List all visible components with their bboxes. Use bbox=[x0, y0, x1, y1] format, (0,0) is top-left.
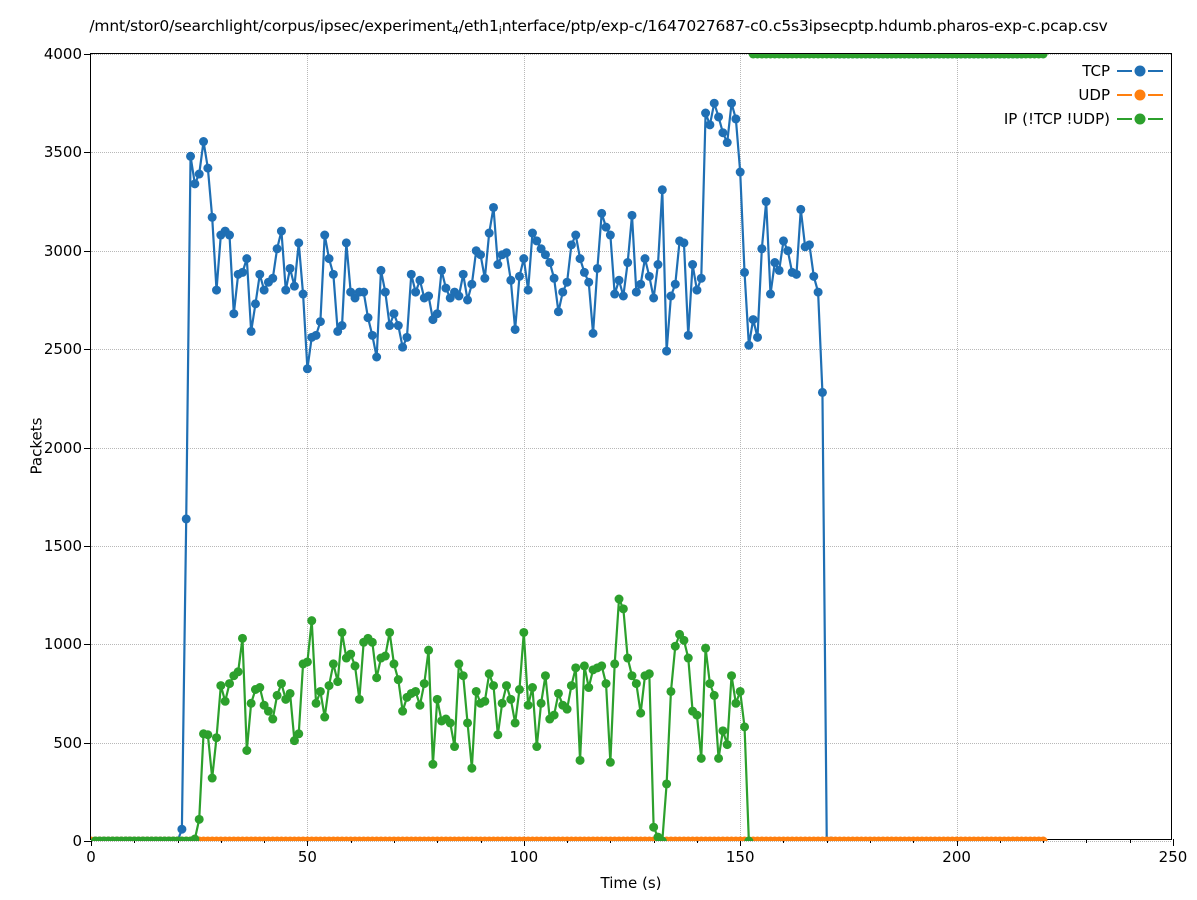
data-point bbox=[545, 258, 554, 267]
data-point bbox=[286, 264, 295, 273]
data-point bbox=[199, 137, 208, 146]
data-point bbox=[1039, 50, 1048, 59]
legend-item[interactable]: UDP bbox=[1078, 84, 1163, 105]
data-point bbox=[649, 823, 658, 832]
data-point bbox=[450, 742, 459, 751]
data-point bbox=[242, 254, 251, 263]
data-point bbox=[701, 109, 710, 118]
data-point bbox=[576, 756, 585, 765]
data-point bbox=[524, 701, 533, 710]
data-point bbox=[515, 272, 524, 281]
y-tick-label: 2500 bbox=[44, 340, 82, 358]
y-tick-label: 4000 bbox=[44, 45, 82, 63]
data-point bbox=[203, 164, 212, 173]
x-tick-label: 0 bbox=[86, 848, 96, 866]
data-point bbox=[779, 236, 788, 245]
y-tick-label: 3000 bbox=[44, 242, 82, 260]
data-point bbox=[524, 286, 533, 295]
data-point bbox=[225, 679, 234, 688]
data-point bbox=[463, 718, 472, 727]
plot-area: 0500100015002000250030003500400005010015… bbox=[90, 53, 1172, 840]
data-point bbox=[506, 695, 515, 704]
data-point bbox=[602, 679, 611, 688]
legend-item[interactable]: TCP bbox=[1082, 60, 1163, 81]
y-axis-label: Packets bbox=[27, 418, 45, 475]
data-point bbox=[467, 280, 476, 289]
data-point bbox=[775, 266, 784, 275]
data-point bbox=[805, 240, 814, 249]
y-tick bbox=[84, 448, 91, 449]
data-point bbox=[260, 286, 269, 295]
data-point bbox=[325, 681, 334, 690]
data-point bbox=[424, 646, 433, 655]
data-point bbox=[485, 229, 494, 238]
data-point bbox=[710, 691, 719, 700]
data-point bbox=[255, 270, 264, 279]
data-point bbox=[338, 628, 347, 637]
data-point bbox=[532, 236, 541, 245]
data-point bbox=[303, 657, 312, 666]
data-point bbox=[550, 274, 559, 283]
data-point bbox=[580, 661, 589, 670]
data-point bbox=[472, 687, 481, 696]
data-point bbox=[316, 687, 325, 696]
data-point bbox=[645, 272, 654, 281]
data-point bbox=[459, 671, 468, 680]
data-point bbox=[619, 292, 628, 301]
data-point bbox=[662, 779, 671, 788]
data-point bbox=[190, 179, 199, 188]
data-point bbox=[710, 99, 719, 108]
data-point bbox=[632, 288, 641, 297]
data-point bbox=[723, 740, 732, 749]
data-point bbox=[736, 168, 745, 177]
data-point bbox=[684, 331, 693, 340]
data-point bbox=[615, 595, 624, 604]
data-point bbox=[208, 213, 217, 222]
chart-legend: TCPUDPIP (!TCP !UDP) bbox=[1004, 60, 1163, 129]
data-point bbox=[446, 718, 455, 727]
data-point bbox=[649, 293, 658, 302]
data-point bbox=[433, 309, 442, 318]
legend-swatch-icon bbox=[1117, 88, 1163, 102]
data-point bbox=[381, 652, 390, 661]
data-point bbox=[221, 697, 230, 706]
data-point bbox=[359, 288, 368, 297]
data-point bbox=[550, 711, 559, 720]
data-point bbox=[381, 288, 390, 297]
y-tick bbox=[84, 841, 91, 842]
data-point bbox=[666, 687, 675, 696]
data-point bbox=[597, 209, 606, 218]
data-point bbox=[212, 286, 221, 295]
data-point bbox=[705, 679, 714, 688]
data-point bbox=[389, 309, 398, 318]
data-point bbox=[662, 347, 671, 356]
matplotlib-figure: /mnt/stor0/searchlight/corpus/ipsec/expe… bbox=[0, 0, 1197, 900]
data-point bbox=[363, 313, 372, 322]
data-point bbox=[385, 628, 394, 637]
data-point bbox=[463, 295, 472, 304]
data-point bbox=[567, 681, 576, 690]
data-point bbox=[584, 278, 593, 287]
data-point bbox=[602, 223, 611, 232]
data-point bbox=[714, 754, 723, 763]
data-point bbox=[528, 683, 537, 692]
data-point bbox=[307, 616, 316, 625]
data-point bbox=[433, 695, 442, 704]
data-point bbox=[420, 679, 429, 688]
data-point bbox=[571, 663, 580, 672]
data-point bbox=[480, 274, 489, 283]
data-point bbox=[459, 270, 468, 279]
data-point bbox=[623, 258, 632, 267]
data-point bbox=[277, 679, 286, 688]
gridline-horizontal bbox=[91, 841, 1171, 842]
data-point bbox=[731, 699, 740, 708]
data-point bbox=[541, 250, 550, 259]
data-point bbox=[411, 687, 420, 696]
data-point bbox=[498, 699, 507, 708]
data-point bbox=[740, 268, 749, 277]
data-point bbox=[619, 604, 628, 613]
data-point bbox=[697, 754, 706, 763]
data-point bbox=[333, 677, 342, 686]
data-point bbox=[234, 667, 243, 676]
data-point bbox=[718, 128, 727, 137]
data-point bbox=[268, 715, 277, 724]
data-point bbox=[727, 99, 736, 108]
data-point bbox=[480, 697, 489, 706]
data-point bbox=[580, 268, 589, 277]
data-point bbox=[818, 388, 827, 397]
data-point bbox=[216, 681, 225, 690]
data-point bbox=[182, 514, 191, 523]
y-tick bbox=[84, 546, 91, 547]
data-point bbox=[394, 321, 403, 330]
x-tick-label: 50 bbox=[298, 848, 317, 866]
data-point bbox=[294, 238, 303, 247]
y-tick-label: 500 bbox=[53, 734, 82, 752]
x-axis-label: Time (s) bbox=[90, 874, 1172, 892]
data-point bbox=[554, 307, 563, 316]
data-point bbox=[368, 331, 377, 340]
data-point bbox=[628, 671, 637, 680]
data-point bbox=[394, 675, 403, 684]
data-point bbox=[195, 815, 204, 824]
y-tick-label: 3500 bbox=[44, 143, 82, 161]
data-point bbox=[437, 266, 446, 275]
legend-label: TCP bbox=[1082, 62, 1110, 80]
data-point bbox=[615, 276, 624, 285]
data-point bbox=[385, 321, 394, 330]
data-point bbox=[623, 654, 632, 663]
data-point bbox=[355, 695, 364, 704]
data-point bbox=[273, 244, 282, 253]
y-tick-label: 1500 bbox=[44, 537, 82, 555]
data-point bbox=[415, 701, 424, 710]
data-point bbox=[277, 227, 286, 236]
data-point bbox=[576, 254, 585, 263]
data-point bbox=[346, 650, 355, 659]
x-tick-label: 250 bbox=[1159, 848, 1188, 866]
data-point bbox=[679, 238, 688, 247]
data-point bbox=[718, 726, 727, 735]
x-tick-label: 100 bbox=[509, 848, 538, 866]
legend-item[interactable]: IP (!TCP !UDP) bbox=[1004, 108, 1163, 129]
data-point bbox=[537, 699, 546, 708]
data-point bbox=[398, 707, 407, 716]
data-point bbox=[489, 203, 498, 212]
data-point bbox=[511, 325, 520, 334]
data-point bbox=[796, 205, 805, 214]
data-point bbox=[563, 705, 572, 714]
data-point bbox=[714, 112, 723, 121]
data-point bbox=[372, 353, 381, 362]
y-tick-label: 2000 bbox=[44, 439, 82, 457]
data-point bbox=[195, 170, 204, 179]
data-point bbox=[329, 270, 338, 279]
data-point bbox=[571, 231, 580, 240]
legend-swatch-icon bbox=[1117, 64, 1163, 78]
data-point bbox=[558, 288, 567, 297]
x-tick bbox=[1173, 839, 1174, 846]
data-point bbox=[697, 274, 706, 283]
data-point bbox=[597, 661, 606, 670]
data-series-layer bbox=[91, 54, 1173, 841]
data-point bbox=[753, 333, 762, 342]
data-point bbox=[740, 722, 749, 731]
series-line bbox=[95, 599, 749, 841]
legend-marker-icon bbox=[1135, 65, 1146, 76]
legend-marker-icon bbox=[1135, 113, 1146, 124]
plot-inner: 0500100015002000250030003500400005010015… bbox=[91, 54, 1171, 839]
data-point bbox=[541, 671, 550, 680]
data-point bbox=[666, 292, 675, 301]
data-point bbox=[679, 636, 688, 645]
legend-label: IP (!TCP !UDP) bbox=[1004, 110, 1110, 128]
data-point bbox=[532, 742, 541, 751]
data-point bbox=[290, 282, 299, 291]
data-point bbox=[610, 659, 619, 668]
y-tick bbox=[84, 743, 91, 744]
data-point bbox=[770, 258, 779, 267]
data-point bbox=[692, 286, 701, 295]
y-tick bbox=[84, 152, 91, 153]
legend-marker-icon bbox=[1135, 89, 1146, 100]
data-point bbox=[411, 288, 420, 297]
data-point bbox=[528, 229, 537, 238]
data-point bbox=[489, 681, 498, 690]
data-point bbox=[731, 114, 740, 123]
data-point bbox=[212, 733, 221, 742]
data-point bbox=[723, 138, 732, 147]
title-text: nterface/ptp/exp-c/1647027687-c0.c5s3ips… bbox=[502, 17, 1108, 35]
data-point bbox=[415, 276, 424, 285]
data-point bbox=[398, 343, 407, 352]
data-point bbox=[493, 260, 502, 269]
data-point bbox=[502, 248, 511, 257]
data-point bbox=[692, 711, 701, 720]
data-point bbox=[320, 231, 329, 240]
chart-title: /mnt/stor0/searchlight/corpus/ipsec/expe… bbox=[0, 17, 1197, 37]
data-point bbox=[762, 197, 771, 206]
y-tick bbox=[84, 644, 91, 645]
data-point bbox=[389, 659, 398, 668]
data-point bbox=[186, 152, 195, 161]
data-point bbox=[177, 825, 186, 834]
data-point bbox=[454, 659, 463, 668]
data-point bbox=[372, 673, 381, 682]
data-point bbox=[476, 250, 485, 259]
data-point bbox=[628, 211, 637, 220]
data-point bbox=[645, 669, 654, 678]
data-point bbox=[428, 760, 437, 769]
data-point bbox=[766, 290, 775, 299]
data-point bbox=[247, 699, 256, 708]
data-point bbox=[351, 661, 360, 670]
data-point bbox=[242, 746, 251, 755]
data-point bbox=[744, 837, 753, 846]
data-point bbox=[519, 254, 528, 263]
data-point bbox=[671, 642, 680, 651]
data-point bbox=[792, 270, 801, 279]
y-tick-label: 1000 bbox=[44, 635, 82, 653]
data-point bbox=[511, 718, 520, 727]
data-point bbox=[744, 341, 753, 350]
data-point bbox=[312, 699, 321, 708]
data-point bbox=[493, 730, 502, 739]
data-point bbox=[688, 260, 697, 269]
data-point bbox=[190, 835, 199, 844]
data-point bbox=[247, 327, 256, 336]
data-point bbox=[294, 729, 303, 738]
data-point bbox=[563, 278, 572, 287]
data-point bbox=[229, 309, 238, 318]
data-point bbox=[636, 280, 645, 289]
data-point bbox=[338, 321, 347, 330]
data-point bbox=[264, 707, 273, 716]
data-point bbox=[342, 238, 351, 247]
y-tick bbox=[84, 251, 91, 252]
y-tick bbox=[84, 349, 91, 350]
data-point bbox=[701, 644, 710, 653]
data-point bbox=[368, 638, 377, 647]
data-point bbox=[316, 317, 325, 326]
data-point bbox=[584, 683, 593, 692]
data-point bbox=[273, 691, 282, 700]
data-point bbox=[225, 231, 234, 240]
data-point bbox=[632, 679, 641, 688]
data-point bbox=[329, 659, 338, 668]
data-point bbox=[658, 837, 667, 846]
data-point bbox=[593, 264, 602, 273]
data-point bbox=[402, 333, 411, 342]
data-point bbox=[658, 185, 667, 194]
data-point bbox=[238, 268, 247, 277]
series-tcp bbox=[91, 50, 1026, 846]
data-point bbox=[814, 288, 823, 297]
data-point bbox=[502, 681, 511, 690]
series-udp bbox=[87, 837, 1048, 846]
title-text: /mnt/stor0/searchlight/corpus/ipsec/expe… bbox=[89, 17, 452, 35]
x-tick-label: 200 bbox=[942, 848, 971, 866]
data-point bbox=[749, 315, 758, 324]
data-point bbox=[485, 669, 494, 678]
data-point bbox=[757, 244, 766, 253]
data-point bbox=[519, 628, 528, 637]
data-point bbox=[203, 730, 212, 739]
data-point bbox=[705, 120, 714, 129]
data-point bbox=[684, 654, 693, 663]
data-point bbox=[268, 274, 277, 283]
data-point bbox=[424, 292, 433, 301]
data-point bbox=[606, 231, 615, 240]
data-point bbox=[286, 689, 295, 698]
data-point bbox=[653, 260, 662, 269]
series-ip-tcp-udp- bbox=[91, 50, 1048, 846]
x-tick-label: 150 bbox=[726, 848, 755, 866]
data-point bbox=[567, 240, 576, 249]
data-point bbox=[640, 254, 649, 263]
data-point bbox=[467, 764, 476, 773]
data-point bbox=[407, 270, 416, 279]
data-point bbox=[515, 685, 524, 694]
data-point bbox=[325, 254, 334, 263]
legend-label: UDP bbox=[1078, 86, 1110, 104]
y-tick-label: 0 bbox=[72, 832, 82, 850]
data-point bbox=[376, 266, 385, 275]
data-point bbox=[736, 687, 745, 696]
data-point bbox=[255, 683, 264, 692]
data-point bbox=[636, 709, 645, 718]
data-point bbox=[610, 290, 619, 299]
data-point bbox=[589, 329, 598, 338]
data-point bbox=[1039, 837, 1048, 846]
data-point bbox=[208, 774, 217, 783]
data-point bbox=[441, 284, 450, 293]
title-text: /eth1 bbox=[459, 17, 499, 35]
data-point bbox=[809, 272, 818, 281]
data-point bbox=[554, 689, 563, 698]
data-point bbox=[312, 331, 321, 340]
data-point bbox=[281, 286, 290, 295]
title-subscript: 4 bbox=[452, 24, 459, 37]
data-point bbox=[303, 364, 312, 373]
data-point bbox=[671, 280, 680, 289]
data-point bbox=[727, 671, 736, 680]
data-point bbox=[320, 713, 329, 722]
data-point bbox=[506, 276, 515, 285]
data-point bbox=[454, 292, 463, 301]
data-point bbox=[606, 758, 615, 767]
legend-swatch-icon bbox=[1117, 112, 1163, 126]
y-tick bbox=[84, 54, 91, 55]
data-point bbox=[251, 299, 260, 308]
data-point bbox=[299, 290, 308, 299]
data-point bbox=[783, 246, 792, 255]
data-point bbox=[238, 634, 247, 643]
